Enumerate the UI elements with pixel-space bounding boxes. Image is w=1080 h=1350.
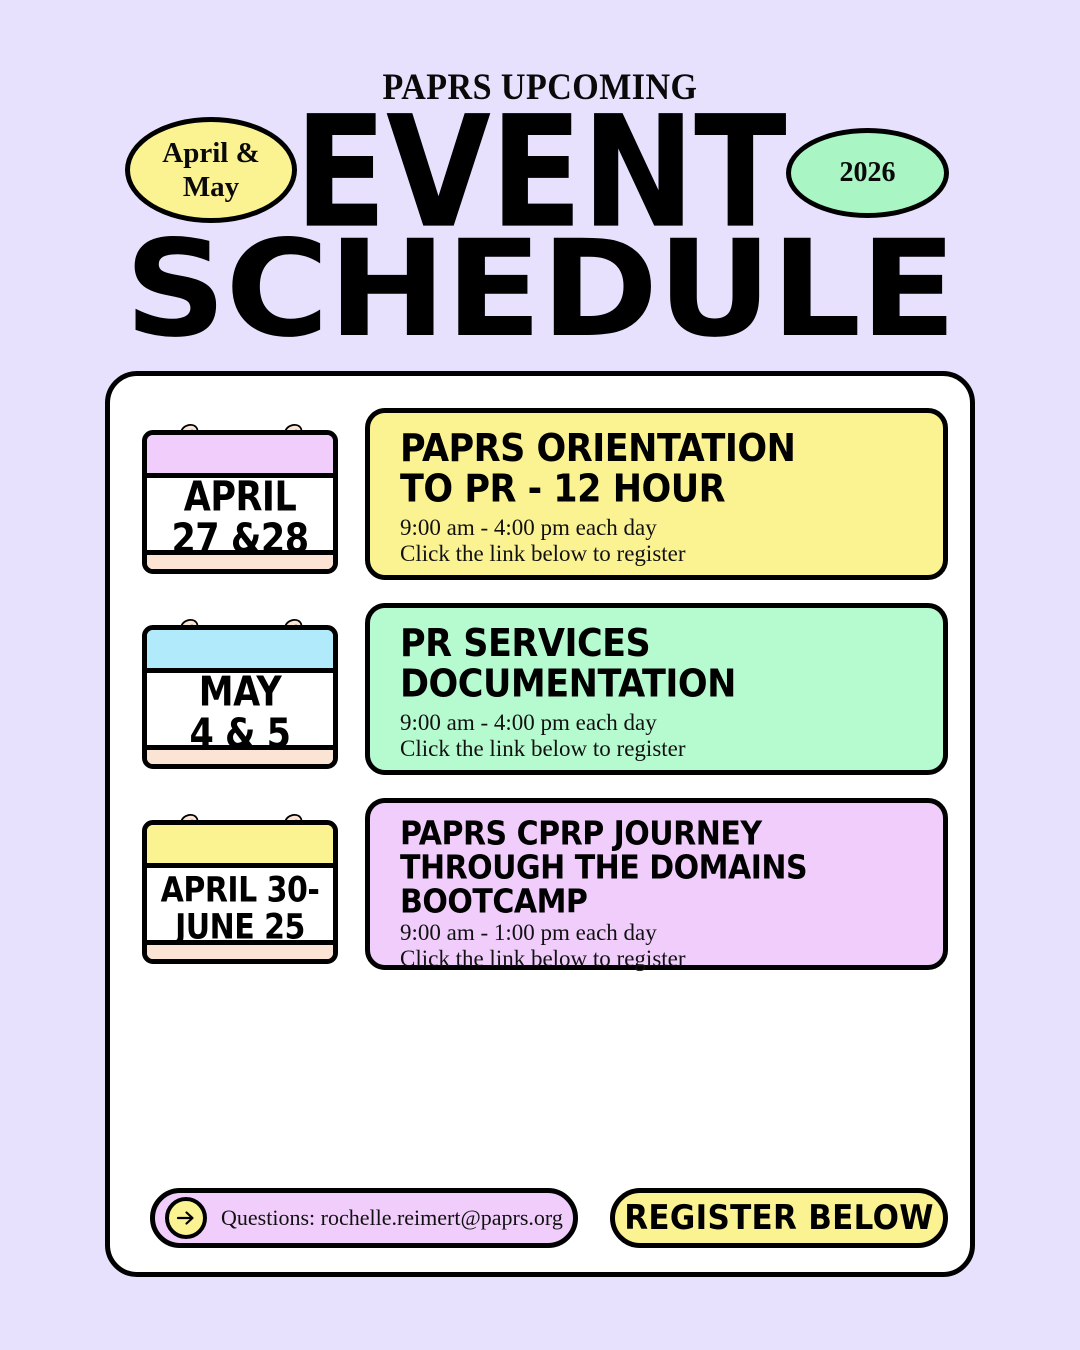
questions-text: Questions: rochelle.reimert@paprs.org xyxy=(221,1205,563,1231)
event-row: APRIL 27 &28 PAPRS ORIENTATION TO PR - 1… xyxy=(142,408,948,580)
calendar-date-line1: MAY xyxy=(199,673,281,714)
event-row: APRIL 30- JUNE 25 PAPRS CPRP JOURNEY THR… xyxy=(142,798,948,970)
event-title-line: PAPRS ORIENTATION xyxy=(400,429,919,470)
event-cta-note: Click the link below to register xyxy=(400,736,919,762)
calendar-date-line1: APRIL xyxy=(184,478,297,519)
event-time: 9:00 am - 4:00 pm each day xyxy=(400,710,919,736)
calendar-header-band xyxy=(147,825,333,868)
arrow-right-icon xyxy=(165,1197,207,1239)
event-details: 9:00 am - 1:00 pm each day Click the lin… xyxy=(400,920,919,972)
calendar-footer-band xyxy=(147,745,333,764)
calendar-date-line1: APRIL 30- xyxy=(161,874,320,909)
register-button-label: REGISTER BELOW xyxy=(624,1199,934,1238)
questions-pill[interactable]: Questions: rochelle.reimert@paprs.org xyxy=(150,1188,578,1248)
page-title-line2: SCHEDULE xyxy=(0,222,1080,355)
schedule-panel: APRIL 27 &28 PAPRS ORIENTATION TO PR - 1… xyxy=(105,371,975,1277)
event-card[interactable]: PAPRS CPRP JOURNEY THROUGH THE DOMAINS B… xyxy=(365,798,948,970)
calendar-body: APRIL 30- JUNE 25 xyxy=(142,820,338,964)
event-details: 9:00 am - 4:00 pm each day Click the lin… xyxy=(400,515,919,567)
calendar-header-band xyxy=(147,630,333,673)
calendar-date-text: APRIL 27 &28 xyxy=(147,481,333,558)
event-title-line: PAPRS CPRP JOURNEY xyxy=(400,817,919,851)
calendar-header-band xyxy=(147,435,333,478)
calendar-footer-band xyxy=(147,550,333,569)
event-title: PAPRS CPRP JOURNEY THROUGH THE DOMAINS B… xyxy=(400,817,919,919)
event-time: 9:00 am - 4:00 pm each day xyxy=(400,515,919,541)
page-title: EVENT xyxy=(0,98,1080,228)
calendar-body: MAY 4 & 5 xyxy=(142,625,338,769)
calendar-icon: APRIL 30- JUNE 25 xyxy=(142,806,338,964)
event-title-line: DOCUMENTATION xyxy=(400,665,919,706)
event-title-line: BOOTCAMP xyxy=(400,885,919,919)
poster-header: PAPRS UPCOMING April & May 2026 EVENT SC… xyxy=(0,0,1080,350)
event-title: PR SERVICES DOCUMENTATION xyxy=(400,624,919,705)
event-title-line: TO PR - 12 HOUR xyxy=(400,470,919,511)
event-title-line: THROUGH THE DOMAINS xyxy=(400,851,919,885)
register-button[interactable]: REGISTER BELOW xyxy=(610,1188,948,1248)
event-title-line: PR SERVICES xyxy=(400,624,919,665)
event-card[interactable]: PAPRS ORIENTATION TO PR - 12 HOUR 9:00 a… xyxy=(365,408,948,580)
panel-footer: Questions: rochelle.reimert@paprs.org RE… xyxy=(142,1188,948,1250)
event-details: 9:00 am - 4:00 pm each day Click the lin… xyxy=(400,710,919,762)
calendar-icon: MAY 4 & 5 xyxy=(142,611,338,769)
calendar-footer-band xyxy=(147,940,333,959)
calendar-body: APRIL 27 &28 xyxy=(142,430,338,574)
event-row: MAY 4 & 5 PR SERVICES DOCUMENTATION 9:00… xyxy=(142,603,948,775)
event-title: PAPRS ORIENTATION TO PR - 12 HOUR xyxy=(400,429,919,510)
calendar-date-text: MAY 4 & 5 xyxy=(147,676,333,753)
event-time: 9:00 am - 1:00 pm each day xyxy=(400,920,919,946)
calendar-date-text: APRIL 30- JUNE 25 xyxy=(147,871,333,948)
event-card[interactable]: PR SERVICES DOCUMENTATION 9:00 am - 4:00… xyxy=(365,603,948,775)
calendar-icon: APRIL 27 &28 xyxy=(142,416,338,574)
event-cta-note: Click the link below to register xyxy=(400,946,919,972)
event-cta-note: Click the link below to register xyxy=(400,541,919,567)
